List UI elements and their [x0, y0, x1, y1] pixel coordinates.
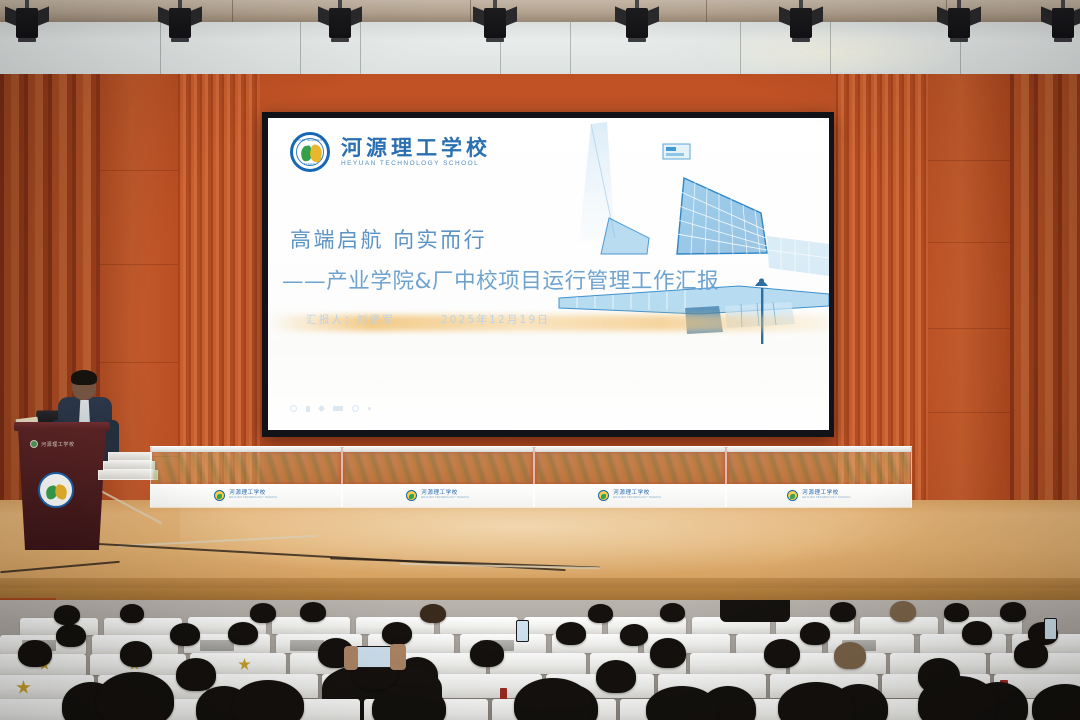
attendee-head	[660, 603, 685, 622]
attendee-head	[1014, 640, 1048, 668]
leaf-icon	[306, 406, 310, 412]
diamond-icon	[318, 405, 325, 412]
attendee-head	[588, 604, 613, 623]
spotlight-icon	[944, 0, 974, 44]
planter-crest-icon	[598, 490, 609, 501]
planter-box: 河源理工学校 HEYUAN TECHNOLOGY SCHOOL	[534, 446, 726, 508]
attendee-head	[596, 660, 636, 693]
seat	[490, 653, 586, 674]
planter-label-en: HEYUAN TECHNOLOGY SCHOOL	[421, 497, 469, 500]
slide-date: 2025年12月19日	[441, 312, 550, 327]
planter-box: 河源理工学校 HEYUAN TECHNOLOGY SCHOOL	[150, 446, 342, 508]
school-crest-icon: HEYUAN TECHNOLOGY SCHOOL	[290, 132, 330, 172]
attendee-body	[720, 600, 790, 622]
podium-nameplate: 河源理工学校	[30, 440, 75, 448]
slide-decoration-icons	[290, 405, 371, 412]
photographer-hands	[344, 646, 358, 670]
attendee-head	[556, 622, 586, 645]
attendee-head	[250, 603, 276, 623]
spotlight-icon	[325, 0, 355, 44]
podium-emblem-icon	[38, 472, 74, 508]
attendee-head	[470, 640, 504, 667]
spotlight-icon	[12, 0, 42, 44]
phone-device	[516, 620, 529, 642]
planter-box: 河源理工学校 HEYUAN TECHNOLOGY SCHOOL	[726, 446, 912, 508]
crest-arc-bottom-text: SCHOOL	[293, 163, 327, 166]
planter-crest-icon	[406, 490, 417, 501]
photographer-hands	[390, 644, 406, 670]
auditorium-photo: HEYUAN TECHNOLOGY SCHOOL 河源理工学校 HEYUAN T…	[0, 0, 1080, 720]
foreground-head	[96, 672, 174, 720]
camera-device	[356, 646, 392, 668]
attendee-head	[300, 602, 326, 622]
attendee-head	[962, 621, 992, 645]
slide-title-sub: ——产业学院&厂中校项目运行管理工作汇报	[282, 264, 719, 295]
attendee-head	[800, 622, 830, 645]
school-name-cn: 河源理工学校	[341, 137, 491, 159]
spotlight-icon	[165, 0, 195, 44]
attendee-head	[834, 642, 866, 669]
bar-icon	[333, 406, 343, 411]
circle-icon	[290, 405, 297, 412]
spotlight-icon	[786, 0, 816, 44]
phone-device	[1044, 618, 1057, 640]
attendee-head	[420, 604, 446, 623]
attendee-head	[54, 605, 80, 625]
slide-presenter: 汇报人：刘贤军	[306, 312, 395, 327]
slide-meta: 汇报人：刘贤军 2025年12月19日	[306, 312, 550, 327]
wall-shadow-right	[960, 74, 1080, 544]
school-name-en: HEYUAN TECHNOLOGY SCHOOL	[341, 160, 491, 167]
planter-box: 河源理工学校 HEYUAN TECHNOLOGY SCHOOL	[342, 446, 534, 508]
podium-name-text: 河源理工学校	[41, 441, 75, 448]
planter-label-en: HEYUAN TECHNOLOGY SCHOOL	[229, 497, 277, 500]
attendee-head	[120, 604, 144, 623]
attendee-head	[228, 622, 258, 645]
ring-icon	[352, 405, 359, 412]
crest-arc-top-text: HEYUAN TECHNOLOGY	[293, 139, 327, 142]
attendee-head	[382, 622, 412, 645]
attendee-head	[176, 658, 216, 691]
attendee-head	[170, 623, 200, 646]
spotlight-icon	[1048, 0, 1078, 44]
attendee-head	[890, 601, 916, 622]
seat-table-panel	[200, 640, 234, 651]
spotlight-icon	[622, 0, 652, 44]
led-screen[interactable]: HEYUAN TECHNOLOGY SCHOOL 河源理工学校 HEYUAN T…	[262, 112, 834, 437]
attendee-head	[1000, 602, 1026, 622]
spotlight-icon	[480, 0, 510, 44]
planter-label-en: HEYUAN TECHNOLOGY SCHOOL	[802, 497, 850, 500]
presentation-slide: HEYUAN TECHNOLOGY SCHOOL 河源理工学校 HEYUAN T…	[268, 118, 829, 430]
attendee-head	[56, 624, 86, 647]
stage-planter-row: 河源理工学校 HEYUAN TECHNOLOGY SCHOOL 河源理工学校 H…	[150, 446, 910, 508]
attendee-head	[620, 624, 648, 646]
attendee-head	[764, 639, 800, 668]
slide-title-main: 高端启航 向实而行	[290, 224, 487, 254]
seat	[440, 617, 518, 634]
attendee-head	[944, 603, 969, 622]
planter-crest-icon	[787, 490, 798, 501]
attendee-head	[830, 602, 856, 622]
planter-crest-icon	[214, 490, 225, 501]
attendee-head	[18, 640, 52, 667]
attendee-head	[650, 638, 686, 668]
attendee-head	[120, 641, 152, 667]
planter-label-en: HEYUAN TECHNOLOGY SCHOOL	[613, 497, 661, 500]
slide-header: HEYUAN TECHNOLOGY SCHOOL 河源理工学校 HEYUAN T…	[290, 132, 491, 172]
podium-crest-icon	[30, 440, 38, 448]
dot-icon	[368, 407, 371, 410]
